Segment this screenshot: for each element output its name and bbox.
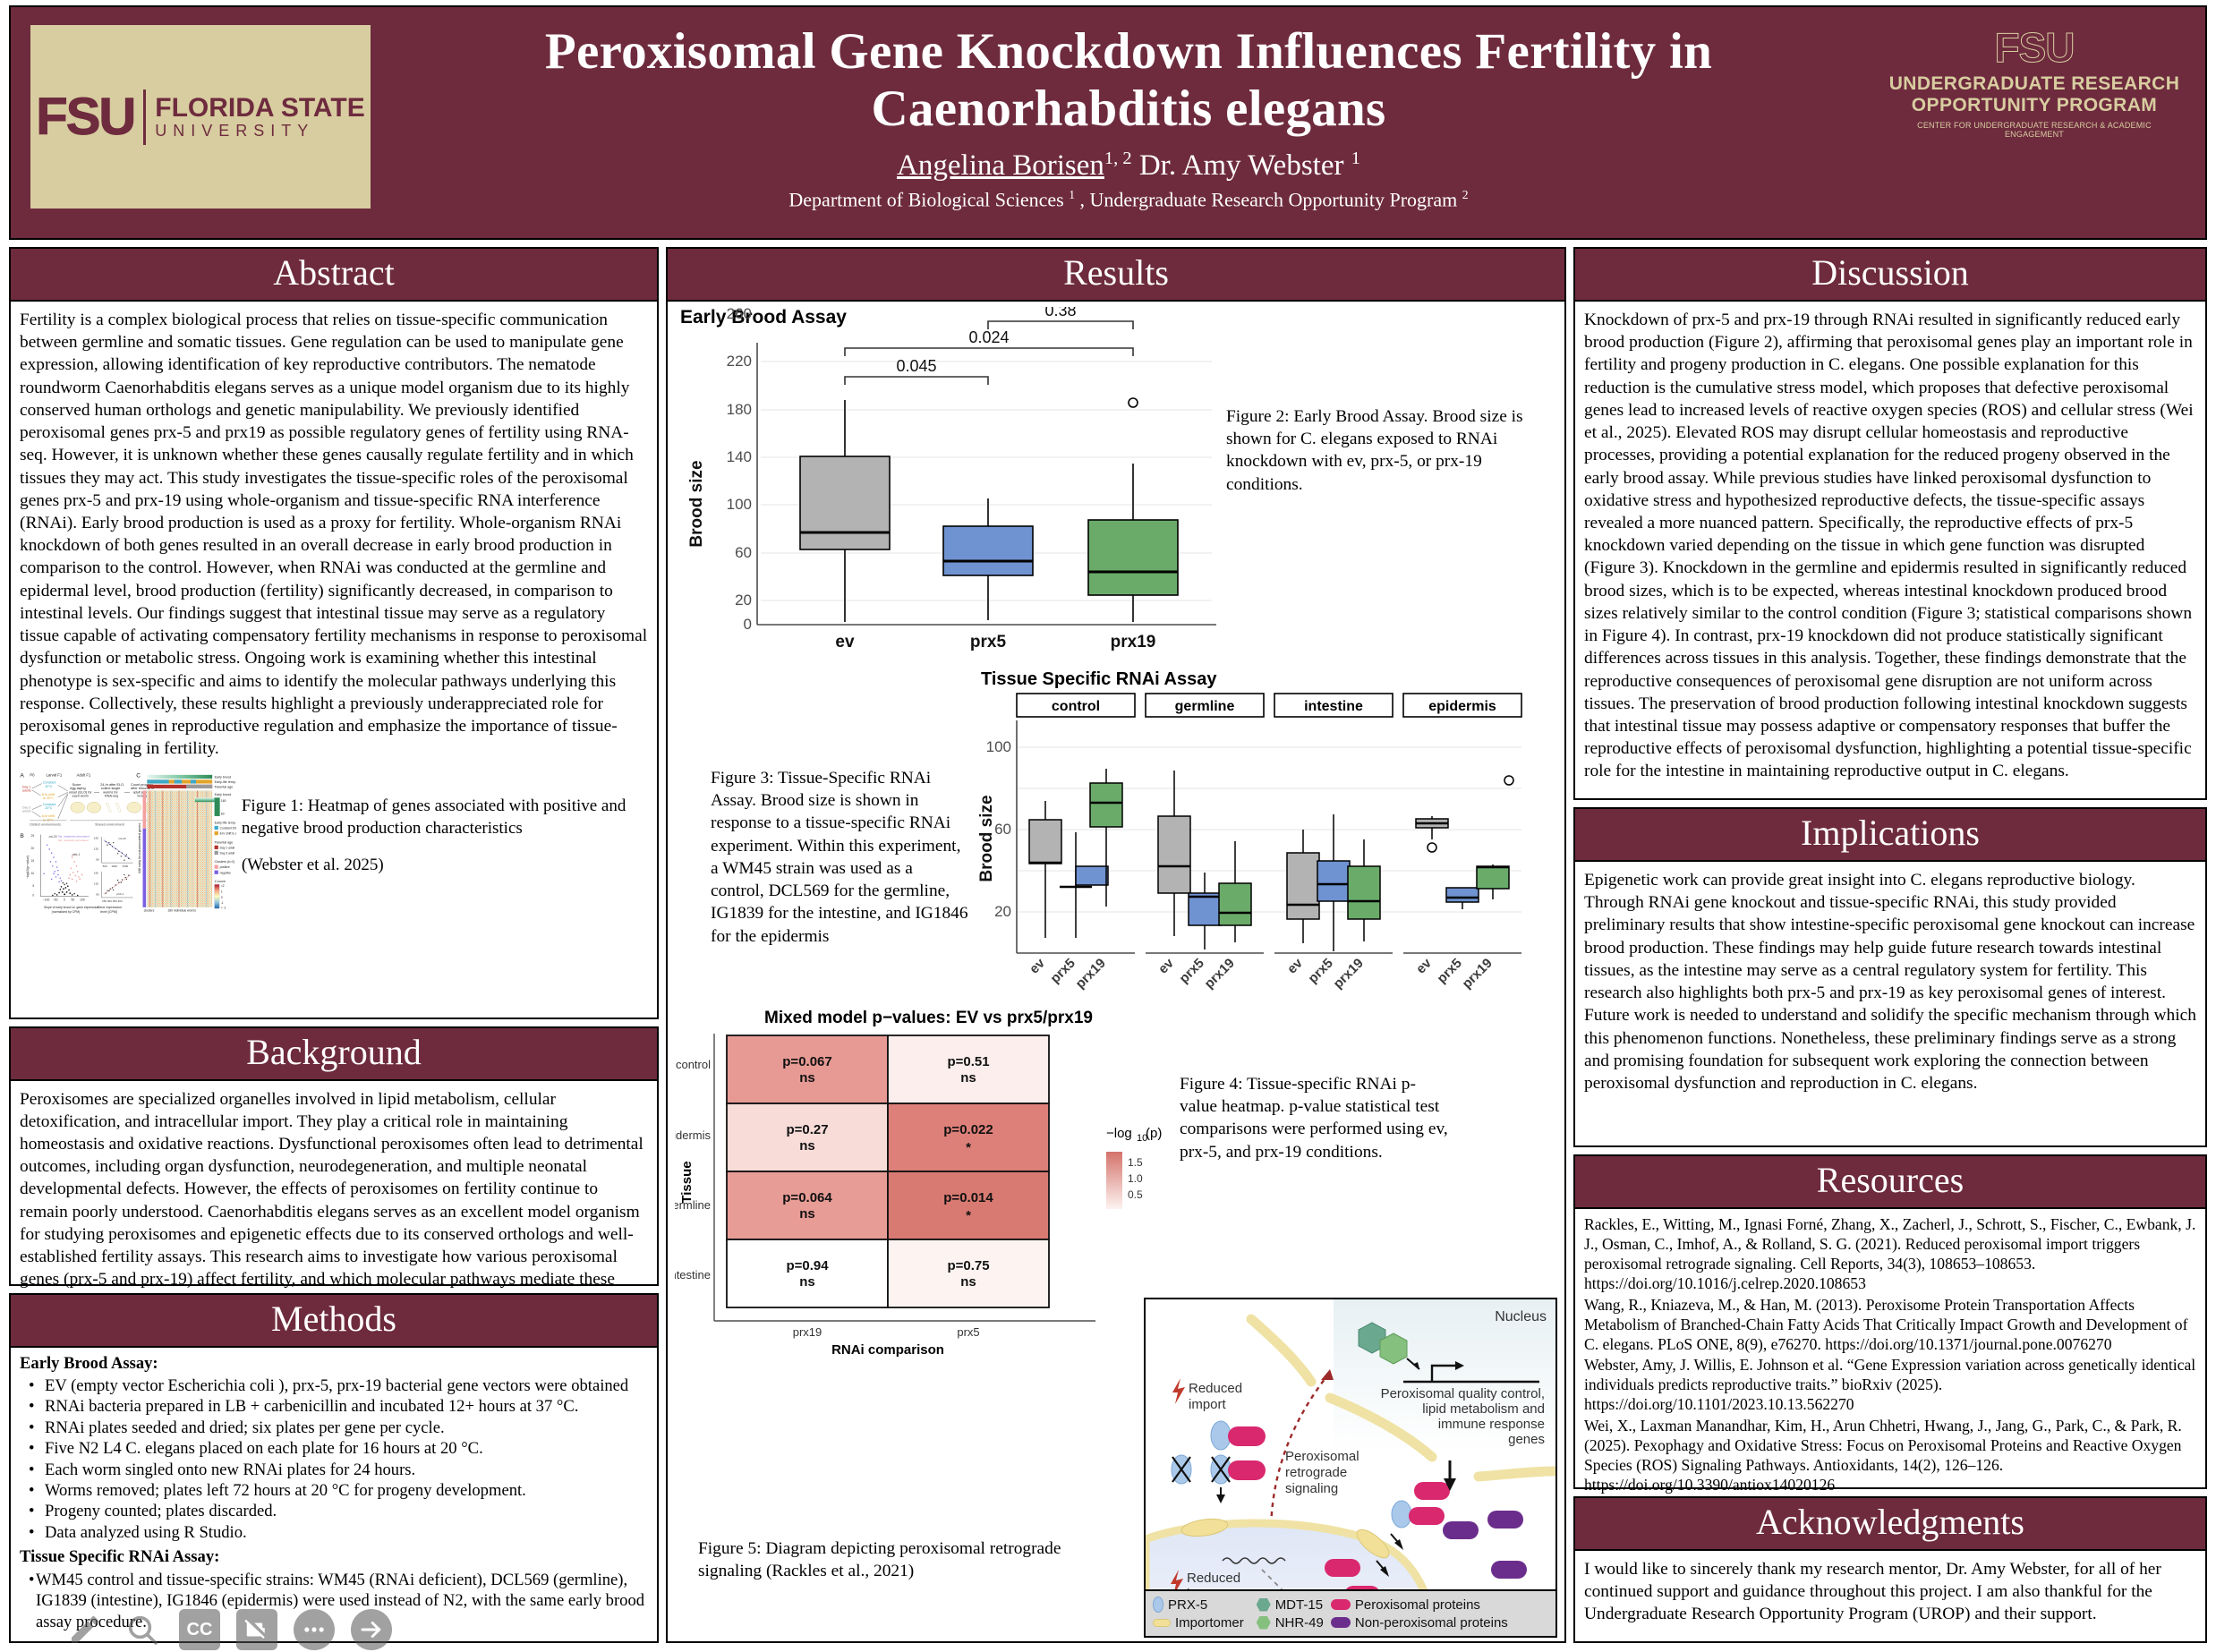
figure-5-diagram: Nucleus <box>1144 1298 1557 1638</box>
reference-entry: Wei, X., Laxman Manandhar, Kim, H., Arun… <box>1584 1416 2196 1495</box>
urop-logo-mark: FSU <box>1887 23 2182 72</box>
svg-text:brood): brood) <box>137 795 148 798</box>
svg-text:worms for: worms for <box>103 791 118 795</box>
svg-text:Peroxisomal quality control,: Peroxisomal quality control, <box>1381 1386 1545 1401</box>
svg-text:50: 50 <box>71 898 74 902</box>
svg-text:Early-life temp.: Early-life temp. <box>215 822 236 825</box>
legend-label: NHR-49 <box>1275 1615 1324 1631</box>
svg-text:0.38: 0.38 <box>1044 307 1076 319</box>
author-primary-sup: 1, 2 <box>1104 149 1132 168</box>
svg-text:100: 100 <box>80 898 85 902</box>
svg-text:−log10(p−value): −log10(p−value) <box>26 856 30 879</box>
svg-text:to 25°C: to 25°C <box>43 797 55 801</box>
svg-text:60: 60 <box>994 821 1011 838</box>
svg-text:control: control <box>676 1058 711 1071</box>
svg-text:C: C <box>136 773 141 779</box>
figure-3-caption: Figure 3: Tissue-Specific RNAi Assay. Br… <box>675 668 970 1009</box>
legend-label: Peroxisomal proteins <box>1355 1597 1480 1613</box>
svg-text:180: 180 <box>727 401 752 418</box>
svg-text:448 early brood-associated gen: 448 early brood-associated genes <box>138 823 141 874</box>
resources-list: Rackles, E., Witting, M., Ignasi Forné, … <box>1575 1209 2205 1501</box>
svg-text:80: 80 <box>96 893 99 897</box>
urop-logo-line3: CENTER FOR UNDERGRADUATE RESEARCH & ACAD… <box>1887 121 2182 139</box>
svg-text:100: 100 <box>727 496 752 513</box>
reference-entry: Webster, Amy, J. Willis, E. Johnson et a… <box>1584 1355 2196 1414</box>
next-slide-icon[interactable] <box>351 1609 392 1650</box>
fsu-logo-mark: FSU <box>36 87 134 147</box>
svg-text:Distinct environments: Distinct environments <box>30 823 61 827</box>
early-brood-assay-chart: Early Brood Assay <box>675 307 1221 665</box>
affiliation-2: , Undergraduate Research Opportunity Pro… <box>1075 188 1462 210</box>
svg-text:Sig. negatively associated: Sig. negatively associated <box>58 835 89 839</box>
implications-panel: Implications Epigenetic work can provide… <box>1573 807 2207 1147</box>
svg-text:Gene expression: Gene expression <box>98 906 122 909</box>
svg-text:phb-1: phb-1 <box>72 854 81 857</box>
svg-text:Parental age: Parental age <box>215 841 234 845</box>
svg-text:25: 25 <box>31 834 35 838</box>
svg-text:0: 0 <box>221 897 223 900</box>
svg-text:P0: P0 <box>30 773 35 778</box>
svg-text:each worm: each worm <box>72 795 89 798</box>
legend-item: MDT-15 <box>1257 1597 1324 1613</box>
nhr49-swatch <box>1257 1616 1271 1630</box>
svg-text:120: 120 <box>94 847 98 851</box>
svg-text:egg-laying: egg-laying <box>70 788 85 791</box>
svg-text:220: 220 <box>727 353 752 370</box>
results-panel: Results Early Brood Assay <box>666 247 1566 1643</box>
svg-text:20°C: 20°C <box>45 806 52 810</box>
svg-text:ns: ns <box>799 1138 815 1154</box>
svg-text:clusters: clusters <box>144 909 155 913</box>
svg-text:Tissue Specific RNAi Assay: Tissue Specific RNAi Assay <box>981 669 1217 689</box>
svg-text:160: 160 <box>94 872 98 875</box>
svg-text:260: 260 <box>727 307 752 322</box>
svg-text:8-hr shift: 8-hr shift <box>42 815 55 819</box>
svg-text:20°C: 20°C <box>45 785 52 788</box>
abstract-heading: Abstract <box>11 249 657 302</box>
nucleus-label: Nucleus <box>1495 1309 1547 1324</box>
list-item: Data analyzed using R Studio. <box>20 1522 648 1543</box>
svg-text:8-hr shift: 8-hr shift <box>42 793 55 796</box>
middle-column: Results Early Brood Assay <box>666 247 1566 1643</box>
svg-text:p=0.27: p=0.27 <box>786 1122 828 1137</box>
svg-text:8-hr shift to 25C: 8-hr shift to 25C <box>220 832 236 836</box>
svg-text:80: 80 <box>96 858 99 862</box>
svg-text:ns: ns <box>799 1274 815 1290</box>
svg-text:Early brood: Early brood <box>215 793 232 796</box>
svg-text:lipid metabolism and: lipid metabolism and <box>1422 1401 1545 1417</box>
svg-text:1500: 1500 <box>122 864 128 868</box>
implications-heading: Implications <box>1575 809 2205 862</box>
legend-label: PRX-5 <box>1168 1597 1207 1613</box>
legend-label: MDT-15 <box>1275 1597 1323 1613</box>
svg-text:collect single: collect single <box>101 788 120 791</box>
svg-text:p=0.94: p=0.94 <box>786 1258 829 1273</box>
svg-text:Day 1: Day 1 <box>22 786 30 789</box>
svg-text:germline: germline <box>1175 699 1235 714</box>
legend-item: PRX-5 <box>1153 1597 1244 1613</box>
svg-text:24-hr after ELO,: 24-hr after ELO, <box>100 783 124 787</box>
background-text: Peroxisomes are specialized organelles i… <box>11 1081 657 1321</box>
poster-root: FSU FLORIDA STATE UNIVERSITY Peroxisomal… <box>0 0 2216 1652</box>
fsu-logo-divider <box>143 89 146 145</box>
reference-entry: Rackles, E., Witting, M., Ignasi Forné, … <box>1584 1214 2196 1294</box>
presentation-controls[interactable]: CC <box>64 1609 392 1650</box>
methods-panel: Methods Early Brood Assay: EV (empty vec… <box>9 1293 659 1643</box>
svg-text:Larval F1: Larval F1 <box>47 773 63 778</box>
prx5-swatch <box>1153 1597 1163 1613</box>
svg-text:epidermis: epidermis <box>1428 699 1496 714</box>
svg-text:to 25°C: to 25°C <box>43 819 55 822</box>
affiliation-1: Department of Biological Sciences <box>788 188 1069 210</box>
acknowledgments-panel: Acknowledgments I would like to sincerel… <box>1573 1496 2207 1643</box>
list-item: RNAi plates seeded and dried; six plates… <box>20 1418 648 1438</box>
list-item: EV (empty vector Escherichia coli ), prx… <box>20 1375 648 1396</box>
abstract-text: Fertility is a complex biological proces… <box>11 302 657 767</box>
figure-1-caption-block: Figure 1: Heatmap of genes associated wi… <box>242 771 650 933</box>
methods-subheading-1: Early Brood Assay: <box>20 1354 158 1373</box>
svg-text:0: 0 <box>744 616 752 633</box>
urop-logo-line2: OPPORTUNITY PROGRAM <box>1887 95 2182 116</box>
svg-text:Early Brood Assay: Early Brood Assay <box>680 307 847 328</box>
svg-text:germline: germline <box>675 1198 711 1212</box>
svg-text:5: 5 <box>32 884 34 888</box>
svg-text:ns: ns <box>960 1070 976 1086</box>
figure-1: A P0 Larval F1 Adult F1 Day 1 adults Day… <box>11 767 657 941</box>
svg-text:Constant: Constant <box>43 803 56 806</box>
svg-text:Shared environment: Shared environment <box>95 823 124 827</box>
svg-text:level (CPM): level (CPM) <box>100 910 117 914</box>
svg-text:A: A <box>20 773 24 779</box>
svg-text:p=0.064: p=0.064 <box>782 1190 832 1205</box>
list-item: Each worm singled onto new RNAi plates f… <box>20 1460 648 1480</box>
title-line-1: Peroxisomal Gene Knockdown Influences Fe… <box>371 23 1887 81</box>
svg-text:Clusters (k=2): Clusters (k=2) <box>215 860 235 864</box>
legend-item: Peroxisomal proteins <box>1331 1597 1508 1613</box>
svg-text:20: 20 <box>735 592 752 609</box>
svg-text:p=0.022: p=0.022 <box>943 1122 993 1137</box>
methods-bullets-1: EV (empty vector Escherichia coli ), prx… <box>20 1375 648 1543</box>
cc-label: CC <box>187 1620 213 1640</box>
svg-text:>2: >2 <box>221 884 225 888</box>
svg-text:genes: genes <box>1508 1432 1545 1447</box>
svg-text:signaling: signaling <box>1285 1481 1338 1496</box>
svg-text:0: 0 <box>64 898 65 902</box>
svg-text:160: 160 <box>221 800 226 804</box>
abstract-panel: Abstract Fertility is a complex biologic… <box>9 247 659 1019</box>
svg-text:adults: adults <box>22 789 31 793</box>
svg-text:Adult F1: Adult F1 <box>77 773 91 778</box>
svg-text:Brood size: Brood size <box>687 460 706 547</box>
svg-text:140: 140 <box>727 448 752 465</box>
svg-text:−100: −100 <box>43 898 50 902</box>
svg-text:1.5: 1.5 <box>1128 1156 1143 1169</box>
methods-subheading-2: Tissue Specific RNAi Assay: <box>20 1547 219 1566</box>
implications-text: Epigenetic work can provide great insigh… <box>1575 862 2205 1102</box>
svg-text:immune response: immune response <box>1438 1417 1545 1432</box>
left-column: Abstract Fertility is a complex biologic… <box>9 247 659 1643</box>
svg-text:onset (ELO) for: onset (ELO) for <box>69 791 92 795</box>
results-body: Early Brood Assay <box>668 302 1564 1641</box>
pvalue-heatmap-chart: Mixed model p−values: EV vs prx5/prx19 T… <box>675 1003 1176 1361</box>
svg-text:control: control <box>1052 699 1100 714</box>
figure-1-image: A P0 Larval F1 Adult F1 Day 1 adults Day… <box>18 771 236 933</box>
svg-text:Reduced: Reduced <box>1187 1571 1240 1586</box>
svg-text:60: 60 <box>735 544 752 561</box>
svg-text:prx19: prx19 <box>793 1325 822 1339</box>
legend-item: NHR-49 <box>1257 1615 1324 1631</box>
svg-text:Sig. positively associated: Sig. positively associated <box>58 839 89 842</box>
svg-text:1: 1 <box>221 890 223 894</box>
mdt15-swatch <box>1257 1598 1271 1612</box>
svg-text:prx19: prx19 <box>1111 633 1156 651</box>
author-secondary-sup: 1 <box>1351 149 1360 168</box>
svg-text:Tissue: Tissue <box>679 1161 695 1203</box>
right-column: Discussion Knockdown of prx-5 and prx-19… <box>1573 247 2207 1643</box>
acknowledgments-text: I would like to sincerely thank my resea… <box>1575 1551 2205 1633</box>
svg-text:ev: ev <box>835 633 855 651</box>
svg-text:60: 60 <box>221 813 225 816</box>
background-heading: Background <box>11 1028 657 1081</box>
figure-5-caption: Figure 5: Diagram depicting peroxisomal … <box>698 1537 1074 1582</box>
list-item: Worms removed; plates left 72 hours at 2… <box>20 1480 648 1501</box>
svg-text:negative: negative <box>220 872 232 875</box>
svg-text:Day 1 adult: Day 1 adult <box>220 847 235 850</box>
fsu-logo-line1: FLORIDA STATE <box>155 94 364 123</box>
svg-text:ns: ns <box>799 1206 815 1222</box>
svg-text:(p): (p) <box>1146 1126 1162 1141</box>
title-line-2: Caenorhabditis elegans <box>371 81 1887 138</box>
list-item: RNAi bacteria prepared in LB + carbenici… <box>20 1396 648 1417</box>
svg-text:epidermis: epidermis <box>675 1128 711 1142</box>
svg-text:Peroxisomal: Peroxisomal <box>1285 1449 1359 1464</box>
svg-text:Day 3 adult: Day 3 adult <box>220 852 235 856</box>
svg-text:Early brood: Early brood <box>215 776 232 779</box>
svg-text:Z-score: Z-score <box>215 880 226 883</box>
svg-text:positive: positive <box>220 866 230 870</box>
urop-logo-line1: UNDERGRADUATE RESEARCH <box>1887 73 2182 95</box>
affiliation-1-sup: 1 <box>1069 188 1075 201</box>
svg-text:RNAi comparison: RNAi comparison <box>831 1342 944 1358</box>
pen-icon[interactable] <box>64 1609 106 1650</box>
acknowledgments-heading: Acknowledgments <box>1575 1498 2205 1551</box>
legend-label: Importomer <box>1175 1615 1244 1631</box>
figure-1-caption: Figure 1: Heatmap of genes associated wi… <box>242 796 650 839</box>
fsu-logo: FSU FLORIDA STATE UNIVERSITY <box>30 25 371 209</box>
svg-text:import: import <box>1189 1397 1227 1412</box>
svg-text:prx5: prx5 <box>970 633 1007 651</box>
svg-text:−log: −log <box>1106 1126 1132 1141</box>
svg-text:15: 15 <box>31 859 35 863</box>
svg-text:intestine: intestine <box>675 1268 711 1282</box>
fsu-logo-line2: UNIVERSITY <box>155 123 364 140</box>
svg-text:1.0: 1.0 <box>1128 1172 1143 1185</box>
figure-2-caption: Figure 2: Early Brood Assay. Brood size … <box>1226 307 1548 665</box>
svg-text:100: 100 <box>986 738 1011 755</box>
svg-text:Constant: Constant <box>43 781 56 785</box>
svg-text:Slope of early brood vs. gene: Slope of early brood vs. gene expression <box>44 906 98 909</box>
discussion-heading: Discussion <box>1575 249 2205 302</box>
svg-text:0.045: 0.045 <box>896 357 936 375</box>
svg-text:Early-life temp.: Early-life temp. <box>215 780 236 784</box>
methods-body: Early Brood Assay: EV (empty vector Esch… <box>11 1348 657 1641</box>
peroxisomal-protein-swatch <box>1331 1599 1351 1610</box>
resources-panel: Resources Rackles, E., Witting, M., Igna… <box>1573 1154 2207 1489</box>
methods-heading: Methods <box>11 1295 657 1348</box>
svg-text:10: 10 <box>31 872 35 875</box>
figure-5-legend: PRX-5 Importomer MDT-15 <box>1146 1589 1555 1636</box>
svg-text:20: 20 <box>994 903 1011 920</box>
svg-text:< -2: < -2 <box>221 907 226 910</box>
urop-logo: FSU UNDERGRADUATE RESEARCH OPPORTUNITY P… <box>1887 23 2182 139</box>
peroxisomal-signaling-diagram: Nucleus <box>1146 1299 1555 1636</box>
svg-text:250 300 350 400: 250 300 350 400 <box>102 899 123 903</box>
svg-text:p=0.75: p=0.75 <box>947 1258 989 1273</box>
svg-text:1000: 1000 <box>111 864 117 868</box>
svg-text:Score: Score <box>72 783 81 787</box>
svg-text:*: * <box>966 1208 971 1223</box>
closed-caption-icon[interactable]: CC <box>179 1609 220 1650</box>
svg-text:p=0.067: p=0.067 <box>782 1054 831 1069</box>
svg-text:B: B <box>20 834 24 840</box>
svg-text:160: 160 <box>94 837 98 840</box>
discussion-panel: Discussion Knockdown of prx-5 and prx-19… <box>1573 247 2207 800</box>
magnifier-icon[interactable] <box>122 1609 163 1650</box>
svg-text:Brood size: Brood size <box>977 795 996 881</box>
svg-text:Mixed model p−values: EV vs pr: Mixed model p−values: EV vs prx5/prx19 <box>764 1009 1093 1027</box>
more-options-icon[interactable] <box>294 1609 335 1650</box>
results-heading: Results <box>668 249 1564 302</box>
author-secondary: Dr. Amy Webster <box>1132 149 1351 182</box>
svg-text:0: 0 <box>32 894 34 898</box>
importomer-swatch <box>1153 1619 1171 1627</box>
svg-text:ns: ns <box>960 1274 976 1290</box>
poster-header: FSU FLORIDA STATE UNIVERSITY Peroxisomal… <box>9 5 2207 240</box>
title-block: Peroxisomal Gene Knockdown Influences Fe… <box>371 7 1887 238</box>
svg-text:RNA-seq: RNA-seq <box>105 795 118 798</box>
svg-text:*: * <box>966 1140 971 1155</box>
legend-item: Importomer <box>1153 1615 1244 1631</box>
svg-text:-1: -1 <box>221 902 224 906</box>
list-item: Progeny counted; plates discarded. <box>20 1501 648 1521</box>
camera-off-icon[interactable] <box>236 1609 277 1650</box>
author-list: Angelina Borisen1, 2 Dr. Amy Webster 1 <box>371 149 1887 183</box>
resources-heading: Resources <box>1575 1156 2205 1209</box>
figure-1-source: (Webster et al. 2025) <box>242 855 650 877</box>
svg-text:Reduced: Reduced <box>1189 1381 1242 1396</box>
non-peroxisomal-protein-swatch <box>1331 1617 1351 1628</box>
legend-item: Non-peroxisomal proteins <box>1331 1615 1508 1631</box>
svg-text:−50: −50 <box>53 898 58 902</box>
svg-text:p=0.014: p=0.014 <box>943 1190 993 1205</box>
svg-text:intestine: intestine <box>1304 699 1363 714</box>
svg-text:col-20: col-20 <box>49 836 57 839</box>
background-panel: Background Peroxisomes are specialized o… <box>9 1026 659 1286</box>
svg-text:Parental age: Parental age <box>215 786 234 789</box>
tissue-specific-rnai-chart: Tissue Specific RNAi Assay Brood size co… <box>976 668 1530 1009</box>
reference-entry: Wang, R., Kniazeva, M., & Han, M. (2013)… <box>1584 1295 2196 1354</box>
svg-text:0.024: 0.024 <box>968 328 1009 346</box>
svg-text:120: 120 <box>94 882 98 886</box>
svg-text:0.5: 0.5 <box>1128 1188 1143 1201</box>
poster-columns: Abstract Fertility is a complex biologic… <box>9 247 2207 1643</box>
list-item: Five N2 L4 C. elegans placed on each pla… <box>20 1438 648 1459</box>
svg-text:phb-1: phb-1 <box>115 892 124 896</box>
svg-text:adults: adults <box>22 810 31 813</box>
page-title: Peroxisomal Gene Knockdown Influences Fe… <box>371 23 1887 138</box>
legend-label: Non-peroxisomal proteins <box>1355 1615 1508 1631</box>
svg-text:retrograde: retrograde <box>1285 1465 1347 1480</box>
svg-text:500: 500 <box>103 864 107 868</box>
affiliations: Department of Biological Sciences 1 , Un… <box>371 188 1887 211</box>
discussion-text: Knockdown of prx-5 and prx-19 through RN… <box>1575 302 2205 790</box>
svg-text:Day 3: Day 3 <box>22 806 30 810</box>
author-primary: Angelina Borisen <box>897 149 1104 182</box>
svg-text:ns: ns <box>799 1070 815 1086</box>
svg-text:(normalized by CPM): (normalized by CPM) <box>52 910 81 914</box>
affiliation-2-sup: 2 <box>1462 188 1469 201</box>
svg-text:prx5: prx5 <box>957 1325 979 1339</box>
svg-text:180 individual worms: 180 individual worms <box>167 909 196 913</box>
svg-text:p=0.51: p=0.51 <box>947 1054 989 1069</box>
svg-text:col-20: col-20 <box>118 837 126 840</box>
svg-text:Constant 20C: Constant 20C <box>220 827 236 830</box>
svg-text:20: 20 <box>31 847 35 850</box>
